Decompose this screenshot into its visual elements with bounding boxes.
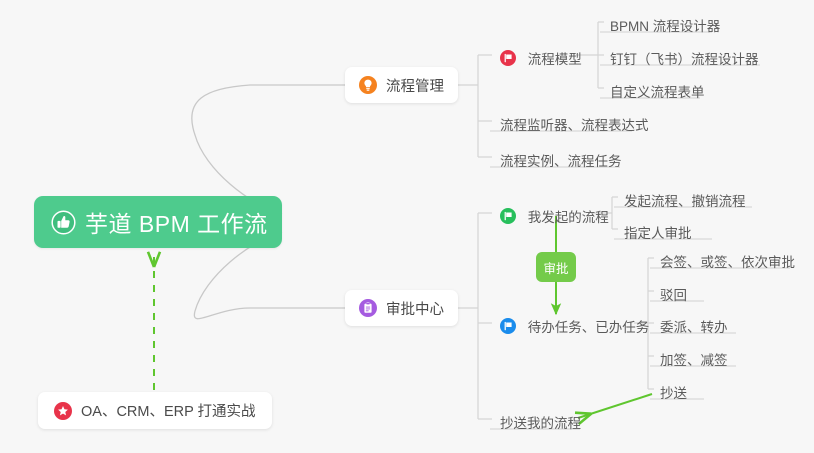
leaf-dingtalk-designer[interactable]: 钉钉（飞书）流程设计器 <box>600 44 769 74</box>
leaf-label-dingtalk-designer: 钉钉（飞书）流程设计器 <box>610 48 759 68</box>
leaf-add-remove-sign[interactable]: 加签、减签 <box>650 345 738 375</box>
leaf-assigned-approval[interactable]: 指定人审批 <box>614 218 702 248</box>
leaf-cc[interactable]: 抄送 <box>650 378 697 408</box>
leaf-label-cc: 抄送 <box>660 382 687 402</box>
leaf-label-process-instance: 流程实例、流程任务 <box>500 150 622 170</box>
branch-label-approval-center: 审批中心 <box>386 298 444 319</box>
leaf-delegate-transfer[interactable]: 委派、转办 <box>650 312 738 342</box>
flag-icon-green <box>500 208 516 224</box>
leaf-process-listener[interactable]: 流程监听器、流程表达式 <box>490 110 659 140</box>
leaf-custom-form[interactable]: 自定义流程表单 <box>600 77 715 107</box>
card-oa-crm-erp[interactable]: OA、CRM、ERP 打通实战 <box>38 392 272 429</box>
node-label-process-model: 流程模型 <box>528 48 582 68</box>
node-my-initiated[interactable]: 我发起的流程 <box>490 202 619 232</box>
leaf-label-assigned-approval: 指定人审批 <box>624 222 692 242</box>
node-label-my-initiated: 我发起的流程 <box>528 206 609 226</box>
flag-icon-blue <box>500 318 516 334</box>
leaf-label-start-cancel-process: 发起流程、撤销流程 <box>624 190 746 210</box>
leaf-label-bpmn-designer: BPMN 流程设计器 <box>610 15 720 35</box>
lightbulb-icon <box>359 76 377 94</box>
branch-label-process-management: 流程管理 <box>386 75 444 96</box>
leaf-bpmn-designer[interactable]: BPMN 流程设计器 <box>600 11 730 41</box>
badge-approval[interactable]: 审批 <box>536 252 576 282</box>
card-label-oa-crm-erp: OA、CRM、ERP 打通实战 <box>81 400 256 421</box>
leaf-label-process-listener: 流程监听器、流程表达式 <box>500 114 649 134</box>
leaf-label-add-remove-sign: 加签、减签 <box>660 349 728 369</box>
branch-approval-center[interactable]: 审批中心 <box>345 290 458 326</box>
flag-icon-red <box>500 50 516 66</box>
leaf-label-countersign: 会签、或签、依次审批 <box>660 251 795 271</box>
leaf-start-cancel-process[interactable]: 发起流程、撤销流程 <box>614 186 756 216</box>
leaf-reject[interactable]: 驳回 <box>650 280 697 310</box>
node-process-model[interactable]: 流程模型 <box>490 44 592 74</box>
leaf-label-reject: 驳回 <box>660 284 687 304</box>
node-label-cc-my-process: 抄送我的流程 <box>500 412 581 432</box>
thumbs-up-icon <box>51 210 76 235</box>
clipboard-icon <box>359 299 377 317</box>
node-todo-tasks[interactable]: 待办任务、已办任务 <box>490 312 659 342</box>
branch-process-management[interactable]: 流程管理 <box>345 67 458 103</box>
leaf-countersign[interactable]: 会签、或签、依次审批 <box>650 247 805 277</box>
leaf-process-instance[interactable]: 流程实例、流程任务 <box>490 146 632 176</box>
root-node[interactable]: 芋道 BPM 工作流 <box>34 196 282 248</box>
curve-to-process-management <box>192 85 345 214</box>
node-cc-my-process[interactable]: 抄送我的流程 <box>490 408 591 438</box>
mindmap-canvas: 芋道 BPM 工作流 流程管理 审批中心 <box>0 0 814 453</box>
leaf-label-custom-form: 自定义流程表单 <box>610 81 705 101</box>
star-icon <box>54 402 72 420</box>
badge-approval-label: 审批 <box>543 258 568 277</box>
node-label-todo-tasks: 待办任务、已办任务 <box>528 316 650 336</box>
root-label: 芋道 BPM 工作流 <box>85 205 268 239</box>
leaf-label-delegate-transfer: 委派、转办 <box>660 316 728 336</box>
